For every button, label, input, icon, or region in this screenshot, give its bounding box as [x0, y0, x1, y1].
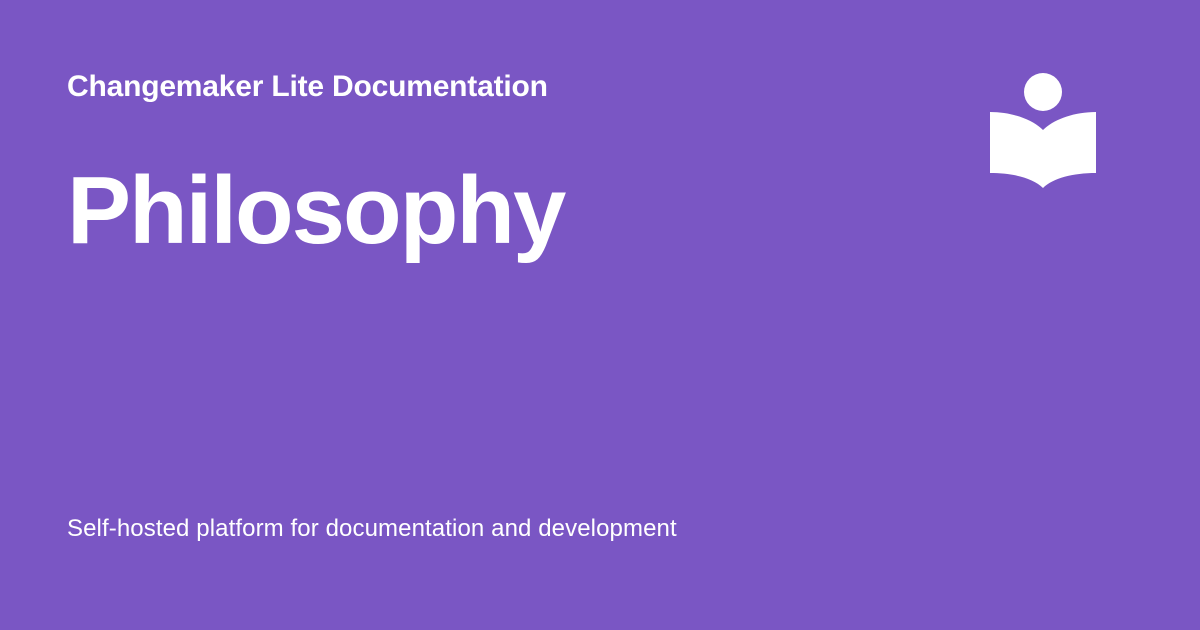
card-text-content: Changemaker Lite Documentation Philosoph… [67, 0, 967, 630]
site-tagline: Self-hosted platform for documentation a… [67, 513, 677, 545]
og-preview-card: Changemaker Lite Documentation Philosoph… [0, 0, 1200, 630]
open-book-reader-icon [983, 66, 1107, 196]
page-title: Philosophy [67, 157, 564, 265]
documentation-site-name: Changemaker Lite Documentation [67, 68, 548, 106]
brand-logo [983, 66, 1107, 196]
